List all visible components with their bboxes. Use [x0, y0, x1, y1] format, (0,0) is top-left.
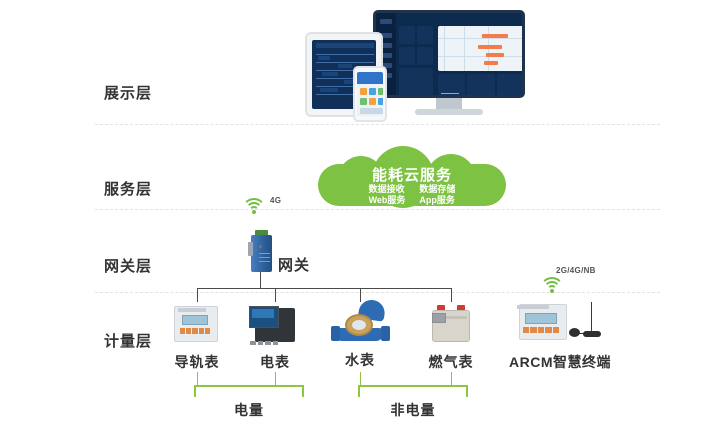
- arcm-terminal-label: ARCM智慧终端: [500, 352, 620, 372]
- layer-label-display: 展示层: [104, 82, 194, 103]
- cloud-icon: 能耗云服务 数据接收 Web服务 数据存储 App服务: [318, 148, 506, 206]
- antenna-icon: [591, 302, 592, 332]
- connector-bus: [197, 288, 451, 289]
- meter-label: 导轨表: [158, 352, 236, 372]
- gas-meter-icon: [420, 302, 482, 348]
- connector-drop-gas: [451, 288, 452, 302]
- bracket-stem-water: [360, 372, 361, 385]
- architecture-diagram: 展示层 服务层 网关层 计量层: [0, 0, 715, 443]
- water-meter-icon: [329, 300, 391, 346]
- meter-gas: 燃气表: [412, 302, 490, 372]
- arcm-terminal-icon: [505, 300, 615, 346]
- network-tag-4g: 4G: [270, 196, 281, 205]
- smartphone-icon: [353, 66, 387, 122]
- grouping-label-non-electricity: 非电量: [358, 400, 468, 420]
- connector-drop-electric: [275, 288, 276, 302]
- gateway-device-icon: [248, 230, 274, 272]
- meter-label: 燃气表: [412, 352, 490, 372]
- din-rail-meter-icon: [166, 302, 228, 348]
- meter-electric: 电表: [236, 302, 314, 372]
- meter-water: 水表: [321, 300, 399, 370]
- meter-label: 电表: [236, 352, 314, 372]
- display-layer-devices: [305, 8, 540, 120]
- monitor-stand-base: [415, 109, 483, 115]
- dashboard-bottom-cards: [438, 74, 524, 98]
- network-tag-2g-4g-nb: 2G/4G/NB: [556, 266, 596, 275]
- grouping-label-electricity: 电量: [194, 400, 304, 420]
- gateway-label: 网关: [278, 254, 310, 275]
- wifi-signal-icon: [243, 198, 265, 214]
- meter-label: 水表: [321, 350, 399, 370]
- bracket-electricity: [194, 385, 304, 397]
- dashboard-map-panel: [438, 26, 524, 71]
- layer-separator-1: [95, 124, 660, 125]
- bracket-non-electricity: [358, 385, 468, 397]
- bracket-stem-gas: [451, 372, 452, 385]
- cloud-service-item: 数据存储: [419, 184, 455, 195]
- layer-separator-2: [95, 209, 660, 210]
- cloud-service-item: 数据接收: [369, 184, 406, 195]
- arcm-terminal: ARCM智慧终端: [500, 300, 620, 372]
- layer-separator-3: [95, 292, 660, 293]
- connector-drop-din: [197, 288, 198, 302]
- bracket-stem-electric: [275, 372, 276, 385]
- layer-label-service: 服务层: [104, 178, 194, 199]
- layer-label-gateway: 网关层: [104, 255, 194, 276]
- cloud-title: 能耗云服务: [318, 164, 506, 185]
- desktop-monitor-icon: [373, 10, 525, 98]
- connector-gateway-down: [260, 272, 261, 288]
- cloud-service-item: Web服务: [369, 195, 406, 206]
- wifi-signal-icon: [541, 277, 563, 293]
- cloud-services: 数据接收 Web服务 数据存储 App服务: [318, 184, 506, 206]
- cloud-service-item: App服务: [419, 195, 455, 206]
- panel-electric-meter-icon: [244, 302, 306, 348]
- bracket-stem-din: [197, 372, 198, 385]
- meter-din-rail: 导轨表: [158, 302, 236, 372]
